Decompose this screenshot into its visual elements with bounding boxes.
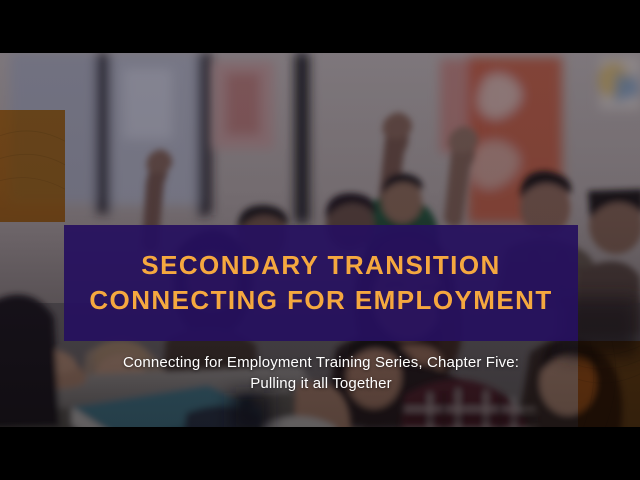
title-line-1: SECONDARY TRANSITION xyxy=(141,248,500,283)
orange-texture-left xyxy=(0,110,65,222)
subtitle-line-2: Pulling it all Together xyxy=(64,373,578,394)
letterbox-bar-bottom xyxy=(0,427,640,480)
title-panel: SECONDARY TRANSITION CONNECTING FOR EMPL… xyxy=(64,225,578,341)
letterbox-bar-top xyxy=(0,0,640,53)
orange-texture-right xyxy=(578,341,640,427)
title-line-2: CONNECTING FOR EMPLOYMENT xyxy=(89,283,552,318)
title-slide: SECONDARY TRANSITION CONNECTING FOR EMPL… xyxy=(0,0,640,480)
subtitle-line-1: Connecting for Employment Training Serie… xyxy=(64,352,578,373)
subtitle: Connecting for Employment Training Serie… xyxy=(64,352,578,395)
orange-accent-block-right xyxy=(578,341,640,427)
orange-accent-block-left xyxy=(0,110,65,222)
